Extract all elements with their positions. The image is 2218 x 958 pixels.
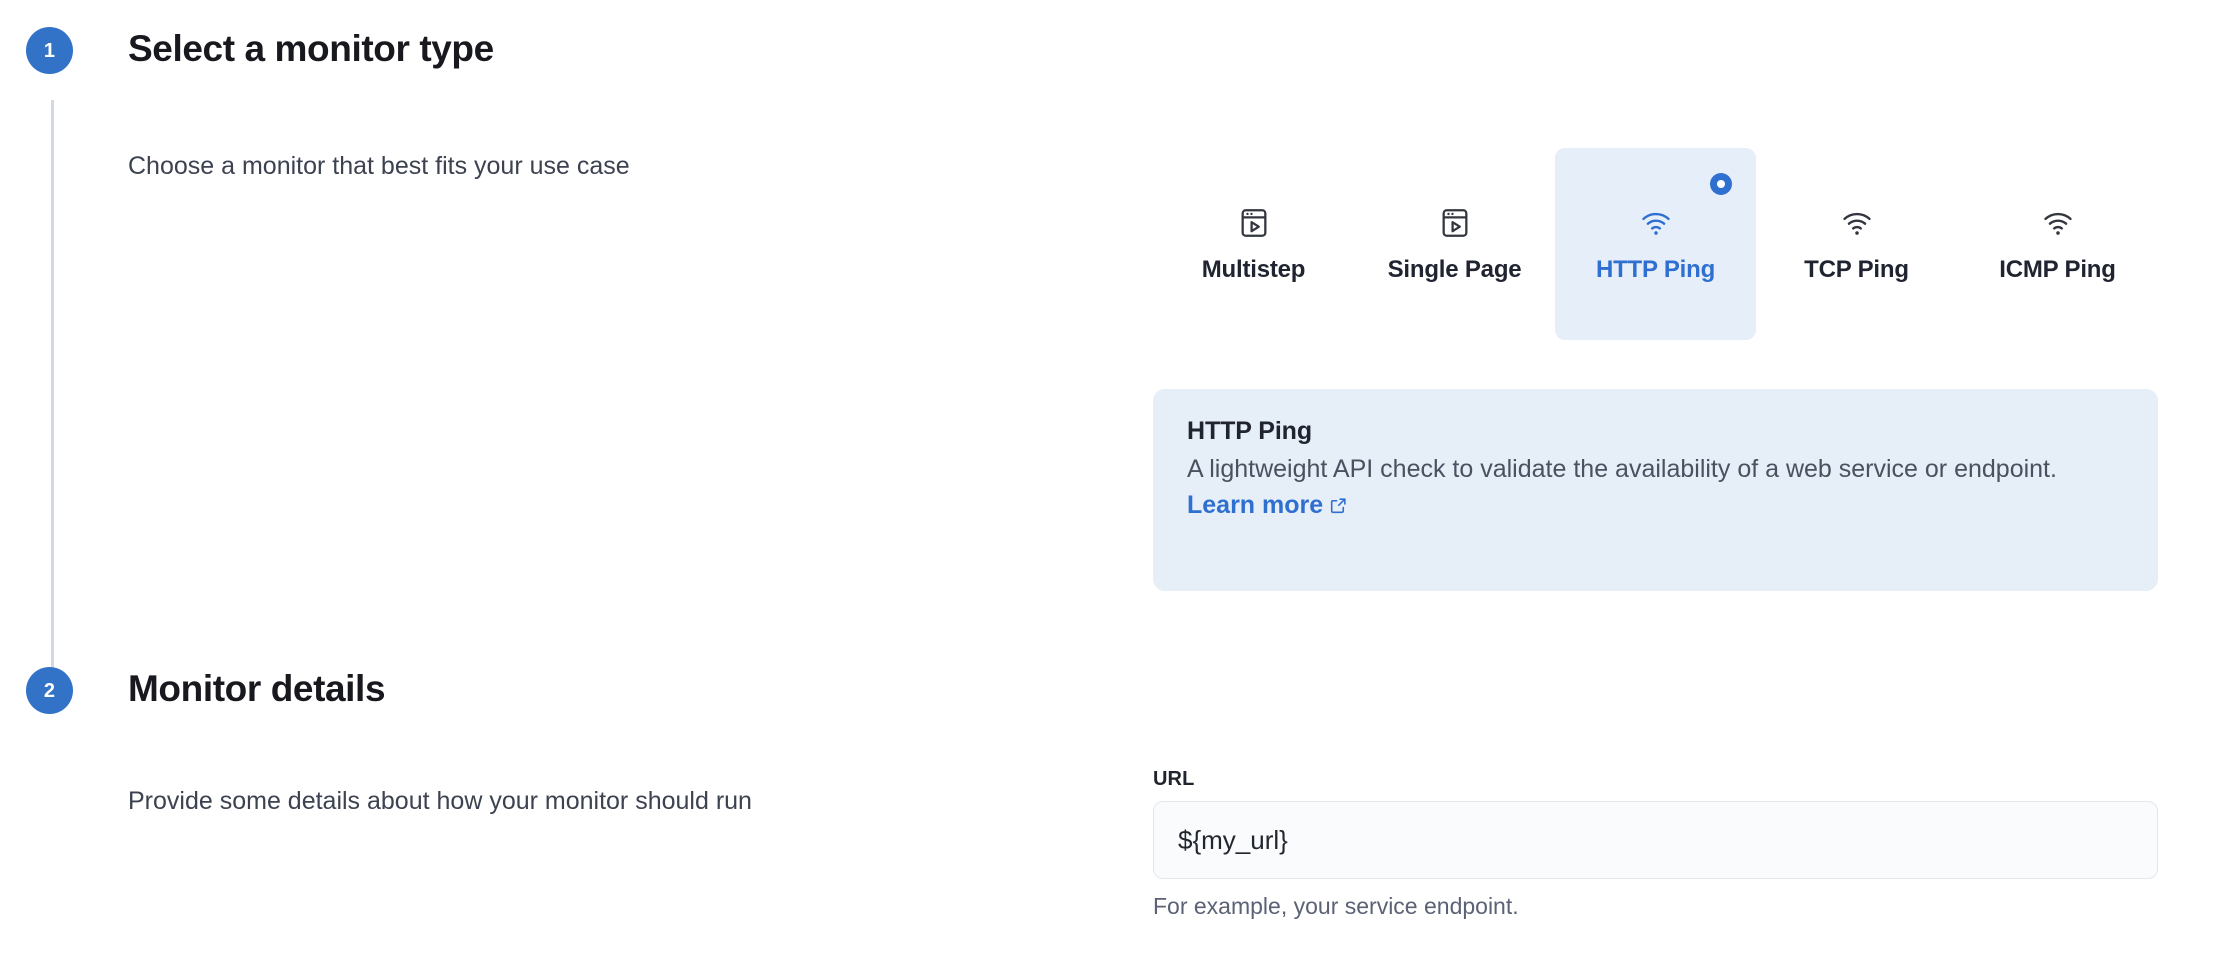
- monitor-type-info-panel: HTTP Ping A lightweight API check to val…: [1153, 389, 2158, 591]
- monitor-type-card-tcp-ping[interactable]: TCP Ping: [1756, 148, 1957, 340]
- info-panel-title: HTTP Ping: [1187, 417, 2124, 446]
- section-title-monitor-details: Monitor details: [128, 668, 385, 710]
- monitor-type-label-single-page: Single Page: [1388, 256, 1522, 284]
- monitor-type-card-icmp-ping[interactable]: ICMP Ping: [1957, 148, 2158, 340]
- browser-play-icon: [1237, 206, 1271, 240]
- monitor-type-card-multistep[interactable]: Multistep: [1153, 148, 1354, 340]
- step-badge-2: 2: [26, 667, 73, 714]
- section-description-select-monitor-type: Choose a monitor that best fits your use…: [128, 152, 630, 181]
- step-badge-1: 1: [26, 27, 73, 74]
- info-panel-body: A lightweight API check to validate the …: [1187, 452, 2117, 523]
- create-monitor-page: 1 Select a monitor type Choose a monitor…: [0, 0, 2218, 958]
- monitor-type-label-multistep: Multistep: [1202, 256, 1306, 284]
- monitor-type-card-single-page[interactable]: Single Page: [1354, 148, 1555, 340]
- monitor-type-selector: Multistep Single Page: [1153, 148, 2158, 340]
- monitor-type-card-http-ping[interactable]: HTTP Ping: [1555, 148, 1756, 340]
- url-field-label: URL: [1153, 768, 2158, 791]
- url-input[interactable]: [1153, 801, 2158, 879]
- wifi-ping-icon: [1639, 206, 1673, 240]
- section-title-select-monitor-type: Select a monitor type: [128, 28, 494, 70]
- url-field-help-text: For example, your service endpoint.: [1153, 893, 2158, 920]
- step-number-2: 2: [44, 681, 55, 701]
- monitor-type-label-tcp-ping: TCP Ping: [1804, 256, 1909, 284]
- radio-selected-icon[interactable]: [1710, 173, 1732, 195]
- browser-play-icon: [1438, 206, 1472, 240]
- wifi-ping-icon: [1840, 206, 1874, 240]
- section-description-monitor-details: Provide some details about how your moni…: [128, 787, 752, 816]
- step-number-1: 1: [44, 41, 55, 61]
- wifi-ping-icon: [2041, 206, 2075, 240]
- monitor-type-label-icmp-ping: ICMP Ping: [1999, 256, 2115, 284]
- learn-more-link[interactable]: Learn more: [1187, 491, 1323, 519]
- monitor-type-label-http-ping: HTTP Ping: [1596, 256, 1715, 284]
- info-panel-description: A lightweight API check to validate the …: [1187, 455, 2057, 483]
- external-link-icon[interactable]: [1329, 490, 1348, 509]
- url-field-group: URL For example, your service endpoint.: [1153, 768, 2158, 920]
- step-connector-line: [51, 100, 54, 670]
